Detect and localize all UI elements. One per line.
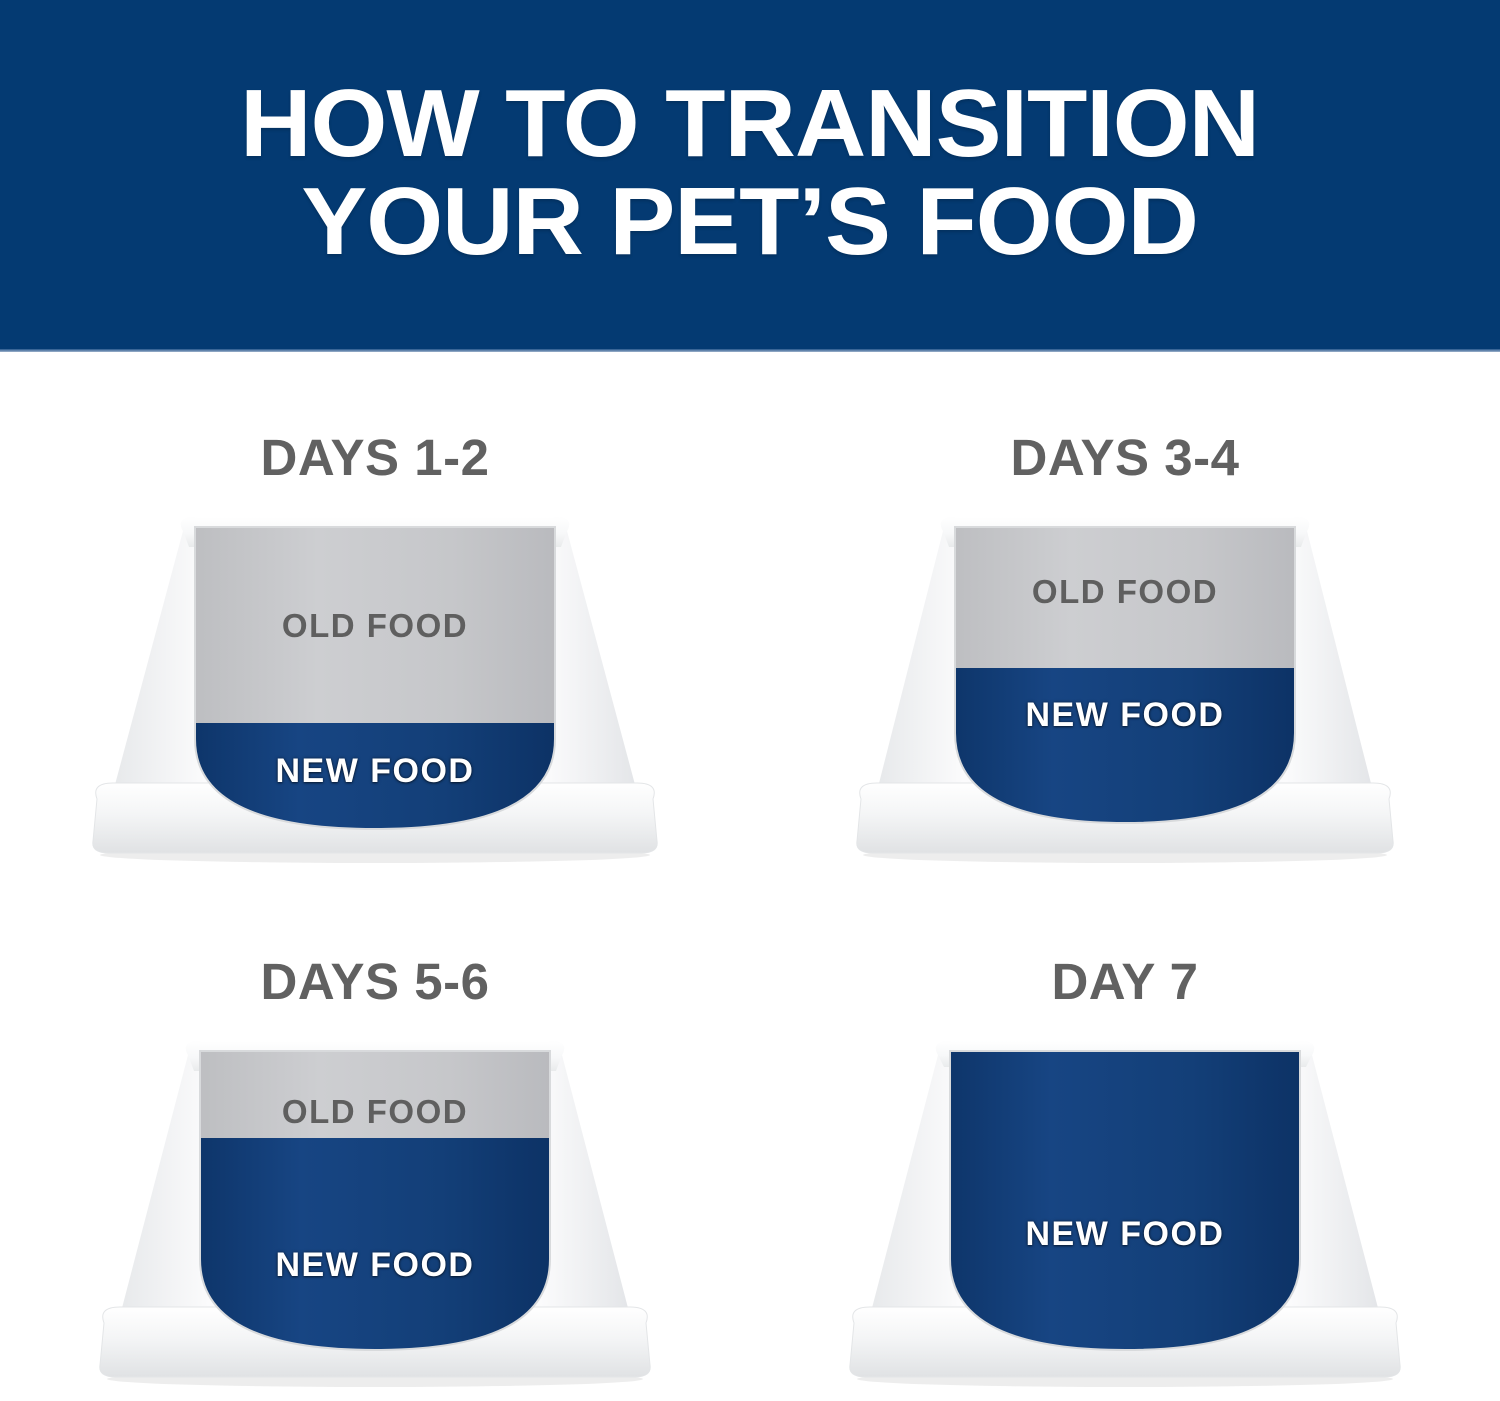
- bowl-svg: [45, 1035, 705, 1395]
- pet-bowl-illustration: OLD FOOD NEW FOOD: [795, 1035, 1455, 1395]
- transition-step-day-7: DAY 7: [750, 956, 1500, 1395]
- bowl-svg: [795, 1035, 1455, 1395]
- transition-step-days-1-2: DAYS 1-2: [0, 432, 750, 871]
- page-title-line-2: YOUR PET’S FOOD: [241, 173, 1260, 271]
- step-day-label: DAYS 1-2: [261, 432, 490, 483]
- pet-bowl-illustration: OLD FOOD NEW FOOD: [795, 511, 1455, 871]
- page-title: HOW TO TRANSITION YOUR PET’S FOOD: [241, 75, 1260, 271]
- bowl-svg: [795, 511, 1455, 871]
- step-day-label: DAY 7: [1051, 956, 1198, 1007]
- pet-bowl-illustration: OLD FOOD NEW FOOD: [45, 511, 705, 871]
- header-banner: HOW TO TRANSITION YOUR PET’S FOOD: [0, 0, 1500, 352]
- page-title-line-1: HOW TO TRANSITION: [241, 70, 1260, 177]
- step-day-label: DAYS 5-6: [261, 956, 490, 1007]
- transition-steps-grid: DAYS 1-2: [0, 352, 1500, 1401]
- transition-step-days-3-4: DAYS 3-4: [750, 432, 1500, 871]
- pet-bowl-illustration: OLD FOOD NEW FOOD: [45, 1035, 705, 1395]
- step-day-label: DAYS 3-4: [1011, 432, 1240, 483]
- transition-step-days-5-6: DAYS 5-6: [0, 956, 750, 1395]
- bowl-svg: [45, 511, 705, 871]
